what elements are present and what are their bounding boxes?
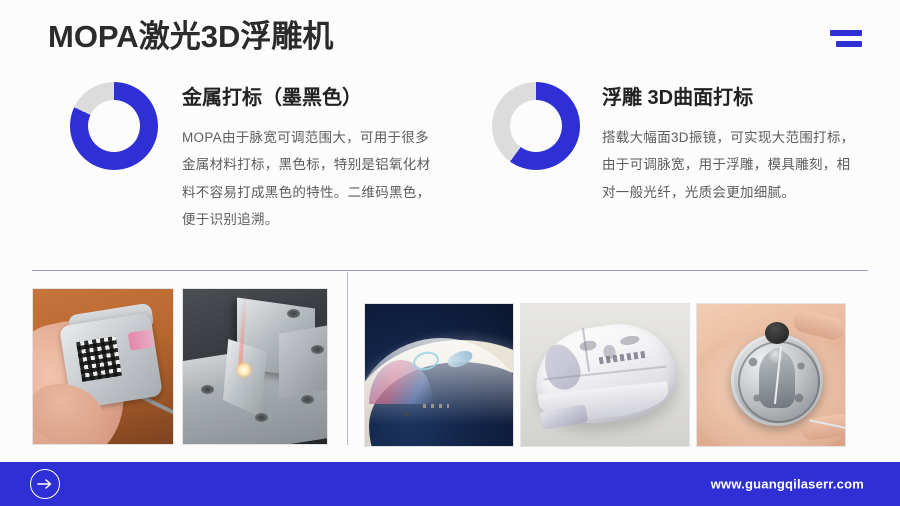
photo-metal-bracket xyxy=(182,288,328,445)
photo-curved-device xyxy=(364,303,514,447)
photo-silver-medallion xyxy=(696,303,846,447)
footer-bar: www.guangqilaserr.com xyxy=(0,462,900,506)
arrow-right-circle-icon[interactable] xyxy=(30,469,60,499)
photo-engraved-mouse xyxy=(520,303,690,447)
donut-chart-relief-3d xyxy=(492,82,580,170)
feature-body: 搭载大幅面3D振镜，可实现大范围打标，由于可调脉宽，用于浮雕，模具雕刻，相对一般… xyxy=(602,124,858,206)
gallery-right-group xyxy=(364,303,846,447)
site-url[interactable]: www.guangqilaserr.com xyxy=(711,477,864,492)
page-title: MOPA激光3D浮雕机 xyxy=(48,18,333,55)
hamburger-bar-top xyxy=(830,30,862,36)
feature-body: MOPA由于脉宽可调范围大，可用于很多金属材料打标，黑色标，特别是铝氧化材料不容… xyxy=(182,124,440,233)
feature-metal-marking: 金属打标（墨黑色） MOPA由于脉宽可调范围大，可用于很多金属材料打标，黑色标，… xyxy=(70,78,470,233)
feature-text-block: 金属打标（墨黑色） MOPA由于脉宽可调范围大，可用于很多金属材料打标，黑色标，… xyxy=(182,78,440,233)
vertical-divider xyxy=(347,272,348,445)
donut-hole xyxy=(510,100,562,152)
horizontal-divider xyxy=(32,270,868,271)
slide-root: MOPA激光3D浮雕机 金属打标（墨黑色） MOPA由于脉宽可调范围大，可用于很… xyxy=(0,0,900,506)
feature-text-block: 浮雕 3D曲面打标 搭载大幅面3D振镜，可实现大范围打标，由于可调脉宽，用于浮雕… xyxy=(602,78,858,206)
donut-hole xyxy=(88,100,140,152)
hamburger-bar-bottom xyxy=(836,41,862,47)
donut-chart-metal-marking xyxy=(70,82,158,170)
hamburger-icon[interactable] xyxy=(828,30,862,52)
photo-qr-sensor xyxy=(32,288,174,445)
feature-title: 浮雕 3D曲面打标 xyxy=(602,86,858,110)
feature-row: 金属打标（墨黑色） MOPA由于脉宽可调范围大，可用于很多金属材料打标，黑色标，… xyxy=(0,78,900,233)
gallery-left-group xyxy=(32,288,328,445)
feature-relief-3d-marking: 浮雕 3D曲面打标 搭载大幅面3D振镜，可实现大范围打标，由于可调脉宽，用于浮雕… xyxy=(492,78,872,233)
feature-title: 金属打标（墨黑色） xyxy=(182,86,440,110)
